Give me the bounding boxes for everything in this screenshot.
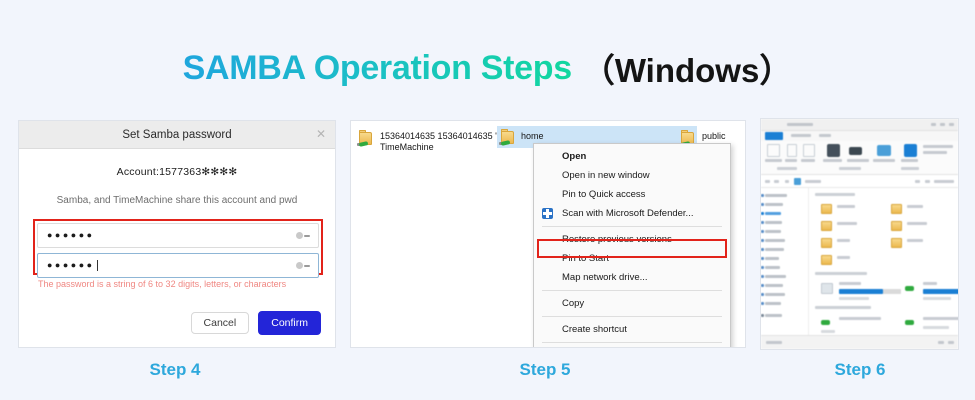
navigation-pane[interactable] <box>761 188 809 335</box>
menu-item-create-shortcut[interactable]: Create shortcut <box>534 320 730 339</box>
page-title: SAMBA Operation Steps（Windows） <box>0 44 975 92</box>
menu-item-properties[interactable]: Properties <box>534 346 730 348</box>
menu-separator <box>542 290 722 291</box>
step-caption-4: Step 4 <box>95 360 255 380</box>
step-caption-6: Step 6 <box>780 360 940 380</box>
menu-item-label: Scan with Microsoft Defender... <box>562 208 693 219</box>
dialog-buttons: Cancel Confirm <box>191 311 321 335</box>
dialog-title: Set Samba password <box>122 129 231 141</box>
ribbon-toolbar[interactable] <box>761 141 958 175</box>
menu-item-scan-defender[interactable]: Scan with Microsoft Defender... <box>534 204 730 223</box>
step-caption-5: Step 5 <box>465 360 625 380</box>
password-input[interactable]: ●●●●●● <box>37 223 319 248</box>
menu-separator <box>542 226 722 227</box>
menu-item-open-new-window[interactable]: Open in new window <box>534 166 730 185</box>
menu-item-pin-quick-access[interactable]: Pin to Quick access <box>534 185 730 204</box>
file-list-pane[interactable] <box>809 188 958 335</box>
panel-step-6 <box>760 118 959 350</box>
menu-separator <box>542 342 722 343</box>
page-title-sub: （Windows） <box>582 52 793 89</box>
confirm-password-value: ●●●●●● <box>47 261 95 270</box>
share-name: home <box>521 131 544 142</box>
eye-icon[interactable] <box>296 262 310 269</box>
list-item[interactable]: 15364014635 15364014635 's TimeMachine <box>357 129 517 154</box>
account-line: Account:1577363✻✻✻✻ <box>19 166 335 178</box>
network-folder-icon <box>357 129 374 147</box>
dialog-header: Set Samba password ✕ <box>19 121 335 149</box>
map-network-drive-highlight-box <box>537 239 727 258</box>
menu-separator <box>542 316 722 317</box>
status-bar <box>761 335 958 349</box>
network-folder-icon <box>499 128 516 146</box>
password-value: ●●●●●● <box>47 231 95 240</box>
explorer-titlebar <box>761 119 958 131</box>
panel-step-5: 15364014635 15364014635 's TimeMachine h… <box>350 120 746 348</box>
eye-icon[interactable] <box>296 232 310 239</box>
confirm-button[interactable]: Confirm <box>258 311 321 335</box>
text-caret <box>97 260 98 271</box>
address-bar[interactable] <box>761 175 958 188</box>
confirm-password-input[interactable]: ●●●●●● <box>37 253 319 278</box>
ribbon-tabs[interactable] <box>761 131 958 141</box>
menu-item-open[interactable]: Open <box>534 147 730 166</box>
page-title-main: SAMBA Operation Steps <box>183 49 572 87</box>
menu-item-map-network-drive[interactable]: Map network drive... <box>534 268 730 287</box>
file-explorer-window <box>761 119 958 349</box>
close-icon[interactable]: ✕ <box>316 128 326 140</box>
panel-step-4: Set Samba password ✕ Account:1577363✻✻✻✻… <box>18 120 336 348</box>
defender-icon <box>542 208 553 219</box>
password-error-text: The password is a string of 6 to 32 digi… <box>38 279 318 289</box>
share-name: public <box>702 129 726 142</box>
cancel-button[interactable]: Cancel <box>191 312 250 334</box>
share-note: Samba, and TimeMachine share this accoun… <box>19 195 335 206</box>
menu-item-copy[interactable]: Copy <box>534 294 730 313</box>
